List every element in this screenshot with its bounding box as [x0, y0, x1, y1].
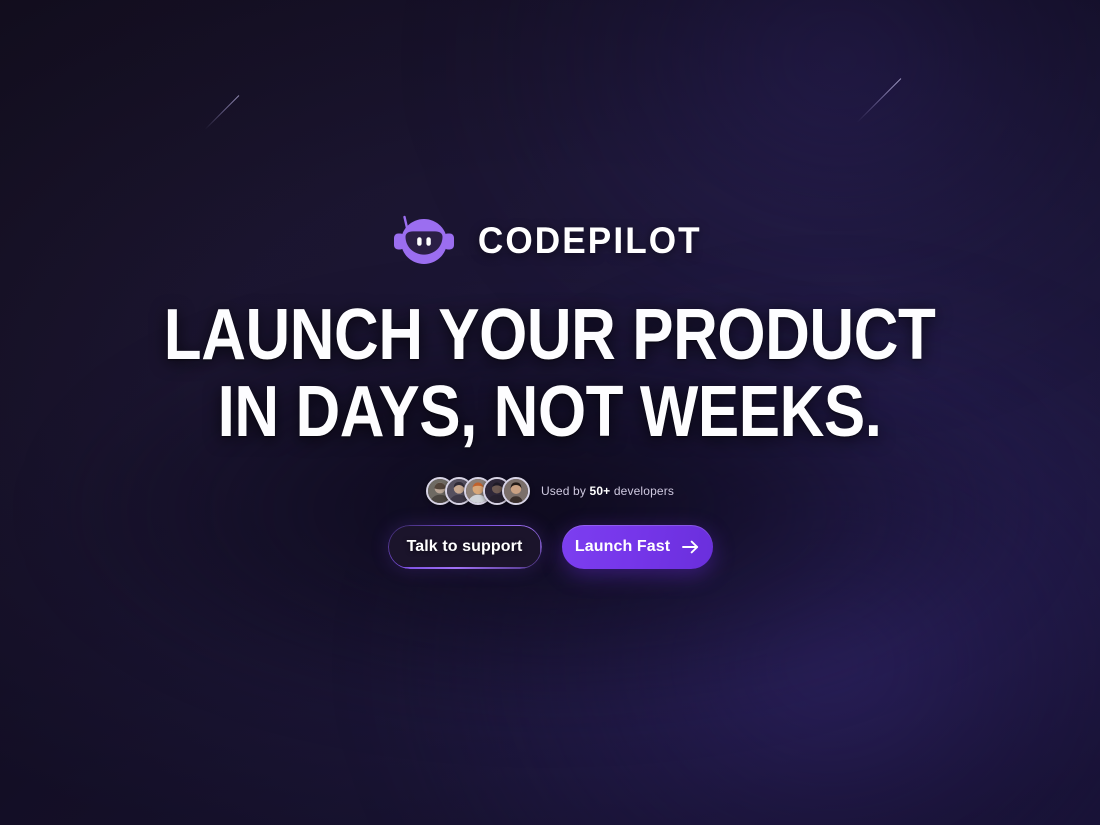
headline-line-1: LAUNCH YOUR PRODUCT	[164, 300, 936, 371]
page-title: LAUNCH YOUR PRODUCT IN DAYS, NOT WEEKS.	[164, 300, 936, 449]
talk-to-support-label: Talk to support	[407, 539, 523, 555]
avatar	[502, 477, 530, 505]
proof-suffix: developers	[614, 484, 674, 498]
launch-fast-button[interactable]: Launch Fast	[562, 525, 713, 569]
arrow-right-icon	[682, 540, 699, 554]
brand-lockup[interactable]: CODEPILOT	[392, 214, 708, 266]
robot-head-icon	[392, 214, 456, 266]
social-proof: Used by 50+ developers	[426, 477, 674, 505]
social-proof-text: Used by 50+ developers	[541, 484, 674, 498]
avatar-stack	[426, 477, 530, 505]
proof-prefix: Used by	[541, 484, 586, 498]
hero-section: CODEPILOT LAUNCH YOUR PRODUCT IN DAYS, N…	[0, 0, 1100, 825]
brand-name: CODEPILOT	[478, 222, 702, 259]
launch-fast-label: Launch Fast	[575, 539, 670, 555]
cta-row: Talk to support Launch Fast	[388, 525, 713, 569]
proof-count: 50+	[590, 484, 611, 498]
avatar-photo-icon	[504, 479, 528, 503]
talk-to-support-button[interactable]: Talk to support	[388, 525, 542, 569]
hero-content: CODEPILOT LAUNCH YOUR PRODUCT IN DAYS, N…	[0, 0, 1100, 825]
headline-line-2: IN DAYS, NOT WEEKS.	[164, 377, 936, 448]
